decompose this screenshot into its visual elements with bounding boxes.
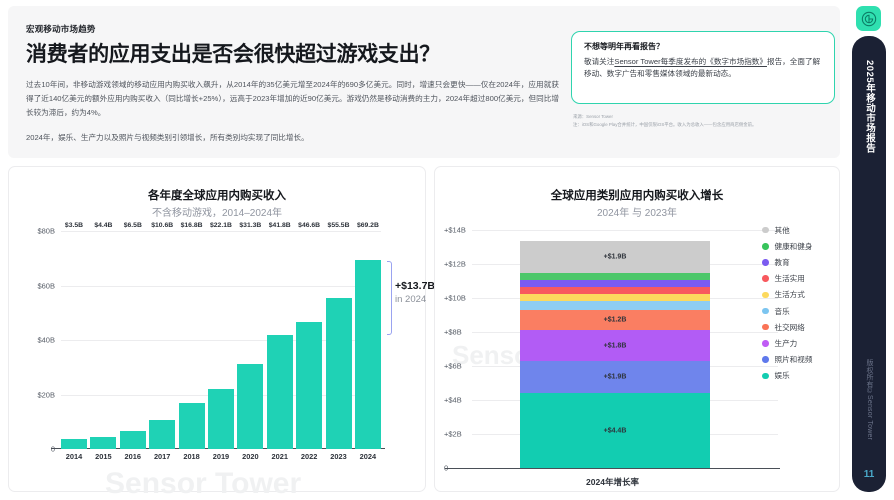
legend-label: 生活方式 — [775, 289, 805, 300]
x-axis-tick: 2015 — [90, 452, 116, 461]
legend-color-swatch-icon — [762, 259, 769, 266]
stack-segment[interactable] — [520, 301, 710, 310]
x-axis-label: 2024年增长率 — [445, 476, 780, 488]
x-axis-tick: 2018 — [179, 452, 205, 461]
bar[interactable]: $4.4B — [90, 437, 116, 449]
growth-bracket-icon — [387, 261, 392, 335]
legend-item[interactable]: 生产力 — [762, 335, 812, 351]
slide-page: 宏观移动市场趋势 消费者的应用支出是否会很快超过游戏支出？ 过去10年间，非移动… — [0, 0, 894, 500]
legend-label: 健康和健身 — [775, 241, 813, 252]
legend-color-swatch-icon — [762, 275, 769, 282]
x-axis-tick: 2019 — [208, 452, 234, 461]
stack-segment[interactable]: +$4.4B — [520, 393, 710, 468]
x-axis-tick: 2021 — [267, 452, 293, 461]
legend-color-swatch-icon — [762, 308, 769, 315]
source-line-1: 来源：Sensor Tower — [573, 113, 873, 121]
y-axis-tick: +$6B — [444, 362, 462, 371]
page-title: 消费者的应用支出是否会很快超过游戏支出？ — [26, 38, 566, 68]
bar-value-label: $10.6B — [151, 222, 173, 229]
legend-label: 娱乐 — [775, 370, 790, 381]
stack-segment[interactable]: +$1.9B — [520, 241, 710, 273]
legend-item[interactable]: 照片和视频 — [762, 352, 812, 368]
callout-link[interactable]: Sensor Tower每季度发布的《数字市场指数》 — [614, 57, 767, 66]
callout-box: 不想等明年再看报告？ 敬请关注Sensor Tower每季度发布的《数字市场指数… — [571, 31, 835, 104]
y-axis-tick: +$12B — [444, 260, 466, 269]
gridline — [472, 230, 778, 231]
bar[interactable]: $22.1B — [208, 389, 234, 449]
legend-label: 社交网络 — [775, 322, 805, 333]
legend-color-swatch-icon — [762, 324, 769, 331]
eyebrow-label: 宏观移动市场趋势 — [26, 23, 96, 35]
legend-label: 音乐 — [775, 306, 790, 317]
y-axis-tick: +$14B — [444, 226, 466, 235]
legend-color-swatch-icon — [762, 356, 769, 363]
y-axis-tick: +$10B — [444, 294, 466, 303]
legend-label: 生活实用 — [775, 273, 805, 284]
bar-column[interactable]: $46.6B — [296, 231, 322, 449]
y-axis-tick: $20B — [37, 390, 55, 399]
growth-annotation-value: +$13.7B — [395, 280, 435, 292]
body-paragraph-1: 过去10年间，非移动游戏领域的移动应用内购买收入飙升，从2014年的35亿美元增… — [26, 78, 559, 120]
segment-value-label: +$1.9B — [520, 254, 710, 261]
legend-color-swatch-icon — [762, 243, 769, 250]
bar-column[interactable]: $16.8B — [179, 231, 205, 449]
bar[interactable]: $16.8B — [179, 403, 205, 449]
chart-title-left: 各年度全球应用内购买收入 — [9, 187, 425, 203]
y-axis-tick: +$8B — [444, 328, 462, 337]
bar-column[interactable]: $31.3B — [237, 231, 263, 449]
legend-label: 生产力 — [775, 338, 798, 349]
segment-value-label: +$1.2B — [520, 317, 710, 324]
segment-value-label: +$4.4B — [520, 427, 710, 434]
body-paragraph-2: 2024年，娱乐、生产力以及照片与视频类别引领增长，所有类别均实现了同比增长。 — [26, 131, 559, 145]
bar-value-label: $31.3B — [239, 222, 261, 229]
x-axis-line — [445, 468, 780, 469]
chart-plot-left: $80B$60B$40B$20B0$3.5B$4.4B$6.5B$10.6B$1… — [61, 231, 381, 449]
source-line-2: 注：iOS和Google Play合并统计，中国仅限iOS平台。收入为总收入——… — [573, 121, 873, 129]
bar[interactable]: $46.6B — [296, 322, 322, 449]
bar[interactable]: $3.5B — [61, 439, 87, 449]
bar-column[interactable]: $10.6B — [149, 231, 175, 449]
bar-column[interactable]: $22.1B — [208, 231, 234, 449]
x-axis-tick: 2023 — [326, 452, 352, 461]
bar-column[interactable]: $41.8B — [267, 231, 293, 449]
legend-color-swatch-icon — [762, 292, 769, 299]
legend-item[interactable]: 音乐 — [762, 303, 812, 319]
chart-subtitle-right: 2024年 与 2023年 — [435, 204, 839, 219]
segment-value-label: +$1.9B — [520, 373, 710, 380]
bar-value-label: $69.2B — [357, 222, 379, 229]
sidebar-report-title: 2025年移动市场报告 — [862, 60, 876, 153]
bar-value-label: $16.8B — [181, 222, 203, 229]
legend-color-swatch-icon — [762, 227, 769, 234]
chart-subtitle-left: 不含移动游戏，2014–2024年 — [9, 204, 425, 219]
legend-item[interactable]: 其他 — [762, 222, 812, 238]
y-axis-tick: $80B — [37, 227, 55, 236]
x-axis-tick: 2014 — [61, 452, 87, 461]
y-axis-tick: 0 — [51, 445, 55, 454]
y-axis-tick: +$4B — [444, 396, 462, 405]
bar-column[interactable]: $55.5B — [326, 231, 352, 449]
page-number: 11 — [864, 469, 875, 480]
bar[interactable]: $31.3B — [237, 364, 263, 449]
legend-item[interactable]: 生活方式 — [762, 287, 812, 303]
legend-color-swatch-icon — [762, 340, 769, 347]
legend-label: 照片和视频 — [775, 354, 813, 365]
legend-item[interactable]: 娱乐 — [762, 368, 812, 384]
chart-card-yearly-iap: 各年度全球应用内购买收入 不含移动游戏，2014–2024年 Sensor To… — [8, 166, 426, 492]
bar-column[interactable]: $4.4B — [90, 231, 116, 449]
x-axis-tick: 2020 — [237, 452, 263, 461]
y-axis-tick: $60B — [37, 281, 55, 290]
bar-value-label: $41.8B — [269, 222, 291, 229]
bar[interactable]: $6.5B — [120, 431, 146, 449]
chart-xaxis-left: 2014201520162017201820192020202120222023… — [61, 452, 381, 461]
bar[interactable]: $55.5B — [326, 298, 352, 449]
bar-column[interactable]: $3.5B — [61, 231, 87, 449]
stacked-bar[interactable]: +$1.9B+$1.2B+$1.8B+$1.9B+$4.4B — [520, 241, 710, 468]
bar-value-label: $6.5B — [124, 222, 142, 229]
bar-value-label: $55.5B — [328, 222, 350, 229]
bar[interactable]: $69.2B — [355, 260, 381, 449]
body-copy: 过去10年间，非移动游戏领域的移动应用内购买收入飙升，从2014年的35亿美元增… — [26, 78, 559, 145]
bar-value-label: $22.1B — [210, 222, 232, 229]
bar-value-label: $46.6B — [298, 222, 320, 229]
sidebar-copyright: 版权所有©Sensor Tower — [864, 359, 874, 440]
x-axis-tick: 2016 — [120, 452, 146, 461]
legend-item[interactable]: 教育 — [762, 254, 812, 270]
chart-legend-right: 其他健康和健身教育生活实用生活方式音乐社交网络生产力照片和视频娱乐 — [762, 222, 812, 384]
watermark-left: Sensor Tower — [105, 467, 301, 500]
source-note: 来源：Sensor Tower 注：iOS和Google Play合并统计，中国… — [573, 113, 873, 128]
stack-segment[interactable] — [520, 273, 710, 280]
legend-label: 其他 — [775, 225, 790, 236]
bar[interactable]: $41.8B — [267, 335, 293, 449]
bar-value-label: $4.4B — [94, 222, 112, 229]
legend-item[interactable]: 健康和健身 — [762, 238, 812, 254]
y-axis-tick: +$2B — [444, 430, 462, 439]
bar-series: $3.5B$4.4B$6.5B$10.6B$16.8B$22.1B$31.3B$… — [61, 231, 381, 449]
segment-value-label: +$1.8B — [520, 342, 710, 349]
callout-title: 不想等明年再看报告？ — [584, 41, 822, 52]
legend-item[interactable]: 生活实用 — [762, 271, 812, 287]
stack-segment[interactable] — [520, 294, 710, 301]
x-axis-tick: 2024 — [355, 452, 381, 461]
bar-value-label: $3.5B — [65, 222, 83, 229]
callout-body: 敬请关注Sensor Tower每季度发布的《数字市场指数》报告，全面了解移动、… — [584, 56, 822, 81]
stack-segment[interactable]: +$1.8B — [520, 330, 710, 361]
growth-annotation-caption: in 2024 — [395, 294, 426, 305]
legend-item[interactable]: 社交网络 — [762, 319, 812, 335]
legend-color-swatch-icon — [762, 373, 769, 380]
callout-text-pre: 敬请关注 — [584, 57, 614, 66]
bar[interactable]: $10.6B — [149, 420, 175, 449]
bar-column[interactable]: $6.5B — [120, 231, 146, 449]
chart-title-right: 全球应用类别应用内购买收入增长 — [435, 187, 839, 203]
x-axis-tick: 2022 — [296, 452, 322, 461]
stack-segment[interactable]: +$1.2B — [520, 310, 710, 330]
legend-label: 教育 — [775, 257, 790, 268]
sensor-tower-logo-icon — [856, 6, 881, 31]
bar-column[interactable]: $69.2B — [355, 231, 381, 449]
gridline — [61, 449, 381, 450]
y-axis-tick: $40B — [37, 336, 55, 345]
sidebar-rail: 2025年移动市场报告 版权所有©Sensor Tower 11 — [852, 36, 886, 492]
stack-segment[interactable] — [520, 280, 710, 287]
stack-segment[interactable]: +$1.9B — [520, 361, 710, 393]
x-axis-tick: 2017 — [149, 452, 175, 461]
